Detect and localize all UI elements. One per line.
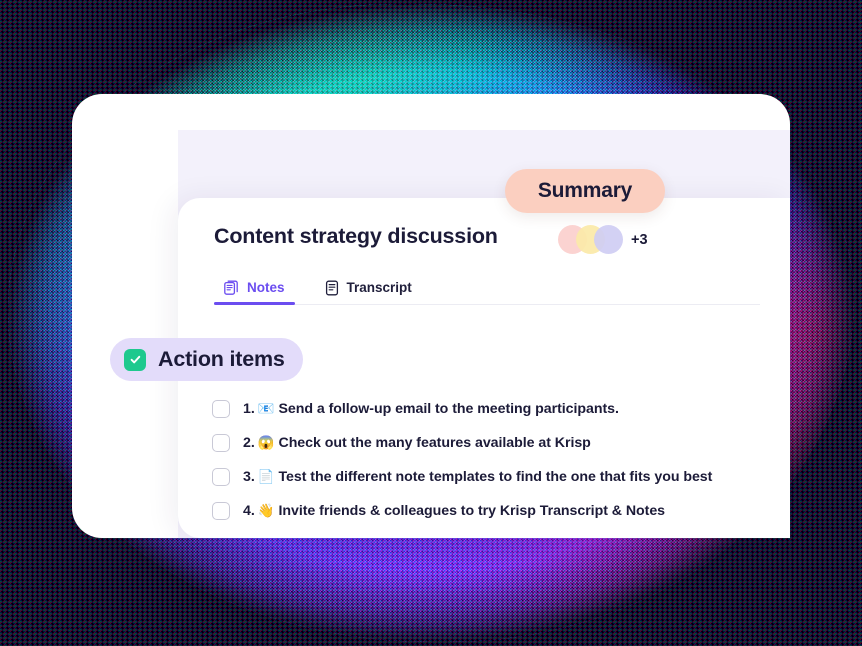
sticky-note-icon	[224, 280, 239, 296]
list-item-label: Send a follow-up email to the meeting pa…	[279, 401, 619, 417]
avatar	[594, 225, 623, 254]
list-item-label: Invite friends & colleagues to try Krisp…	[279, 503, 666, 519]
document-list-icon	[325, 280, 339, 296]
tab-bar: Notes Transcript	[214, 276, 790, 305]
action-items-heading: Action items	[110, 338, 303, 381]
checkbox-icon[interactable]	[212, 400, 230, 418]
tab-divider	[214, 304, 760, 305]
list-item-number: 1.	[243, 401, 255, 417]
list-item-label: Test the different note templates to fin…	[279, 469, 713, 485]
summary-badge[interactable]: Summary	[505, 169, 665, 213]
list-item-label: Check out the many features available at…	[279, 435, 591, 451]
list-item-number: 2.	[243, 435, 255, 451]
checkbox-icon[interactable]	[212, 468, 230, 486]
screaming-face-emoji: 😱	[258, 435, 275, 450]
avatar-overflow-count: +3	[631, 232, 648, 248]
list-item-number: 3.	[243, 469, 255, 485]
list-item[interactable]: 2.😱Check out the many features available…	[212, 426, 852, 460]
tab-notes-label: Notes	[247, 280, 285, 295]
page-emoji: 📄	[258, 469, 275, 484]
checkbox-checked-icon	[124, 349, 146, 371]
email-emoji: 📧	[258, 401, 275, 416]
list-item[interactable]: 3.📄Test the different note templates to …	[212, 460, 852, 494]
list-item-text: 3.📄Test the different note templates to …	[243, 469, 712, 485]
tab-transcript-label: Transcript	[347, 280, 412, 295]
summary-badge-label: Summary	[538, 179, 632, 203]
checkbox-icon[interactable]	[212, 502, 230, 520]
waving-hand-emoji: 👋	[258, 503, 275, 518]
list-item-text: 1.📧Send a follow-up email to the meeting…	[243, 401, 619, 417]
page-title: Content strategy discussion	[214, 224, 790, 250]
tab-transcript[interactable]: Transcript	[315, 276, 422, 305]
screenshot-root: Content strategy discussion Notes	[0, 0, 862, 646]
list-item-text: 4.👋Invite friends & colleagues to try Kr…	[243, 503, 665, 519]
participant-avatars[interactable]: +3	[558, 225, 648, 254]
list-item[interactable]: 1.📧Send a follow-up email to the meeting…	[212, 392, 852, 426]
list-item[interactable]: 4.👋Invite friends & colleagues to try Kr…	[212, 494, 852, 528]
list-item-text: 2.😱Check out the many features available…	[243, 435, 591, 451]
tab-notes[interactable]: Notes	[214, 276, 295, 305]
note-header: Content strategy discussion Notes	[178, 198, 790, 305]
checkbox-icon[interactable]	[212, 434, 230, 452]
list-item-number: 4.	[243, 503, 255, 519]
action-items-label: Action items	[158, 349, 285, 371]
action-items-list: 1.📧Send a follow-up email to the meeting…	[212, 392, 852, 528]
